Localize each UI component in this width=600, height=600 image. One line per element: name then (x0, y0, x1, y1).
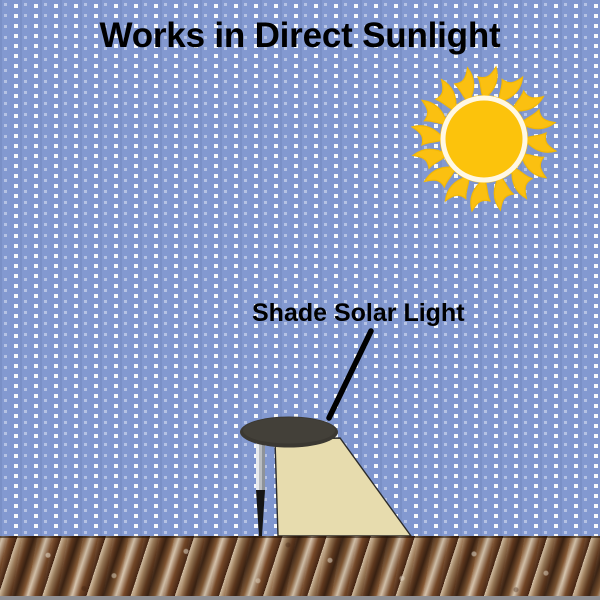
lamp-shade-icon (240, 417, 338, 448)
ground-stake-icon (256, 442, 265, 536)
callout-label-shade-solar-light: Shade Solar Light (252, 299, 465, 328)
image-bottom-border (0, 596, 600, 600)
light-beam-icon (275, 438, 411, 536)
ground-speckle-texture (0, 536, 600, 600)
ground-top-edge (0, 536, 600, 538)
ground-surface (0, 536, 600, 600)
shade-solar-light-fixture (236, 412, 436, 542)
leader-line-icon (318, 325, 380, 425)
sun-icon (408, 63, 560, 215)
product-illustration: Works in Direct Sunlight Shade Solar Lig… (0, 0, 600, 600)
page-title: Works in Direct Sunlight (0, 16, 600, 56)
